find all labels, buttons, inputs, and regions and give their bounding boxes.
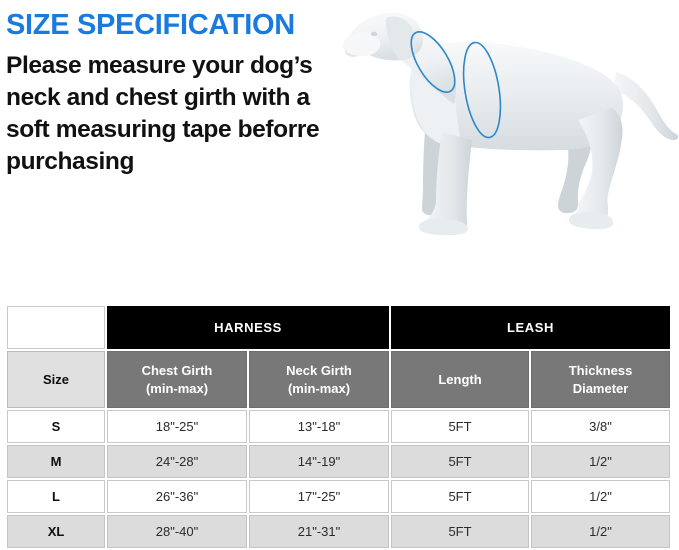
instruction-text: Please measure your dog’s neck and chest… xyxy=(6,50,351,178)
cell-length: 5FT xyxy=(391,480,529,513)
table-corner-cell xyxy=(7,306,105,349)
column-header-neck-girth-line2: (min-max) xyxy=(250,380,388,398)
column-header-length: Length xyxy=(391,351,529,408)
cell-thickness: 1/2" xyxy=(531,445,670,478)
cell-chest-girth: 24"-28" xyxy=(107,445,247,478)
dog-mannequin-illustration xyxy=(330,0,679,250)
cell-neck-girth: 13"-18" xyxy=(249,410,389,443)
table-row: S 18"-25" 13"-18" 5FT 3/8" xyxy=(7,410,670,443)
dog-body-group xyxy=(343,12,678,235)
group-header-leash: LEASH xyxy=(391,306,670,349)
page-title: SIZE SPECIFICATION xyxy=(6,8,351,42)
column-header-thickness-line2: Diameter xyxy=(532,380,669,398)
column-header-thickness: Thickness Diameter xyxy=(531,351,670,408)
column-header-neck-girth-line1: Neck Girth xyxy=(250,362,388,380)
column-header-chest-girth-line1: Chest Girth xyxy=(108,362,246,380)
headline-block: SIZE SPECIFICATION Please measure your d… xyxy=(6,8,351,178)
cell-chest-girth: 18"-25" xyxy=(107,410,247,443)
cell-neck-girth: 21"-31" xyxy=(249,515,389,548)
cell-size: XL xyxy=(7,515,105,548)
table-row: XL 28"-40" 21"-31" 5FT 1/2" xyxy=(7,515,670,548)
cell-length: 5FT xyxy=(391,445,529,478)
column-header-chest-girth: Chest Girth (min-max) xyxy=(107,351,247,408)
cell-size: M xyxy=(7,445,105,478)
cell-chest-girth: 26"-36" xyxy=(107,480,247,513)
cell-chest-girth: 28"-40" xyxy=(107,515,247,548)
cell-thickness: 1/2" xyxy=(531,480,670,513)
cell-thickness: 1/2" xyxy=(531,515,670,548)
table-row: M 24"-28" 14"-19" 5FT 1/2" xyxy=(7,445,670,478)
group-header-harness: HARNESS xyxy=(107,306,389,349)
column-header-size: Size xyxy=(7,351,105,408)
dog-eye xyxy=(371,32,377,36)
cell-size: S xyxy=(7,410,105,443)
cell-length: 5FT xyxy=(391,515,529,548)
table-row: L 26"-36" 17"-25" 5FT 1/2" xyxy=(7,480,670,513)
cell-neck-girth: 17"-25" xyxy=(249,480,389,513)
size-specification-table: HARNESS LEASH Size Chest Girth (min-max)… xyxy=(5,304,672,550)
cell-size: L xyxy=(7,480,105,513)
column-header-thickness-line1: Thickness xyxy=(532,362,669,380)
column-header-neck-girth: Neck Girth (min-max) xyxy=(249,351,389,408)
cell-thickness: 3/8" xyxy=(531,410,670,443)
table-group-header-row: HARNESS LEASH xyxy=(7,306,670,349)
cell-length: 5FT xyxy=(391,410,529,443)
table-column-header-row: Size Chest Girth (min-max) Neck Girth (m… xyxy=(7,351,670,408)
cell-neck-girth: 14"-19" xyxy=(249,445,389,478)
column-header-chest-girth-line2: (min-max) xyxy=(108,380,246,398)
